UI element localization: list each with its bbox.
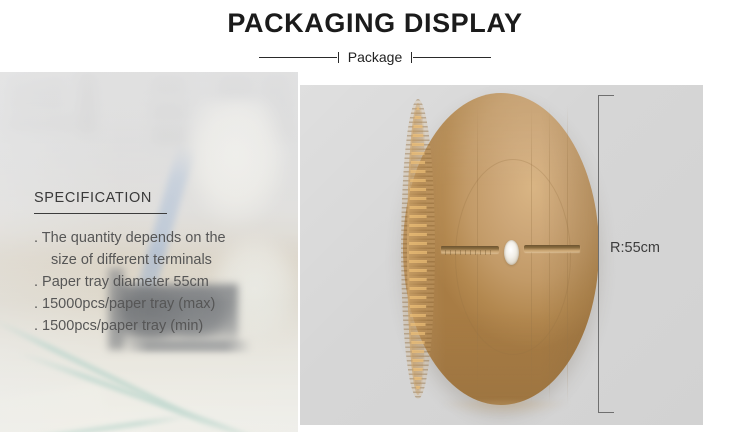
specification-underline [34, 213, 167, 214]
reel-center-hole [504, 240, 519, 265]
list-item: . 15000pcs/paper tray (max) [34, 293, 290, 315]
decoration-tick-right [411, 52, 412, 63]
dimension-label: R:55cm [610, 240, 660, 256]
reel-staple-row [409, 107, 427, 391]
decoration-line-right [413, 57, 491, 58]
specification-list: . The quantity depends on the size of di… [34, 227, 290, 337]
dimension-cap-top [598, 95, 614, 96]
specification-heading: SPECIFICATION [34, 190, 290, 206]
background-photo-panel: SPECIFICATION . The quantity depends on … [0, 72, 298, 432]
dimension-cap-bottom [598, 412, 614, 413]
reel-reflection [421, 401, 589, 425]
list-item: . Paper tray diameter 55cm [34, 271, 290, 293]
reel-slot-right [524, 245, 580, 252]
specification-block: SPECIFICATION . The quantity depends on … [34, 190, 290, 337]
reel-slot-left [441, 246, 499, 253]
decoration-line-left [259, 57, 337, 58]
page-header: PACKAGING DISPLAY Package [0, 0, 750, 72]
dimension-line [598, 95, 599, 413]
subtitle-decoration: Package [0, 46, 750, 68]
list-item: . 1500pcs/paper tray (min) [34, 315, 290, 337]
decoration-tick-left [338, 52, 339, 63]
paper-tray-reel [395, 85, 615, 425]
subtitle-label: Package [340, 49, 410, 65]
list-item: . The quantity depends on the [34, 227, 290, 249]
reel-face [403, 93, 599, 405]
packaging-display-page: PACKAGING DISPLAY Package [0, 0, 750, 445]
page-title: PACKAGING DISPLAY [0, 8, 750, 39]
list-item: size of different terminals [34, 249, 290, 271]
